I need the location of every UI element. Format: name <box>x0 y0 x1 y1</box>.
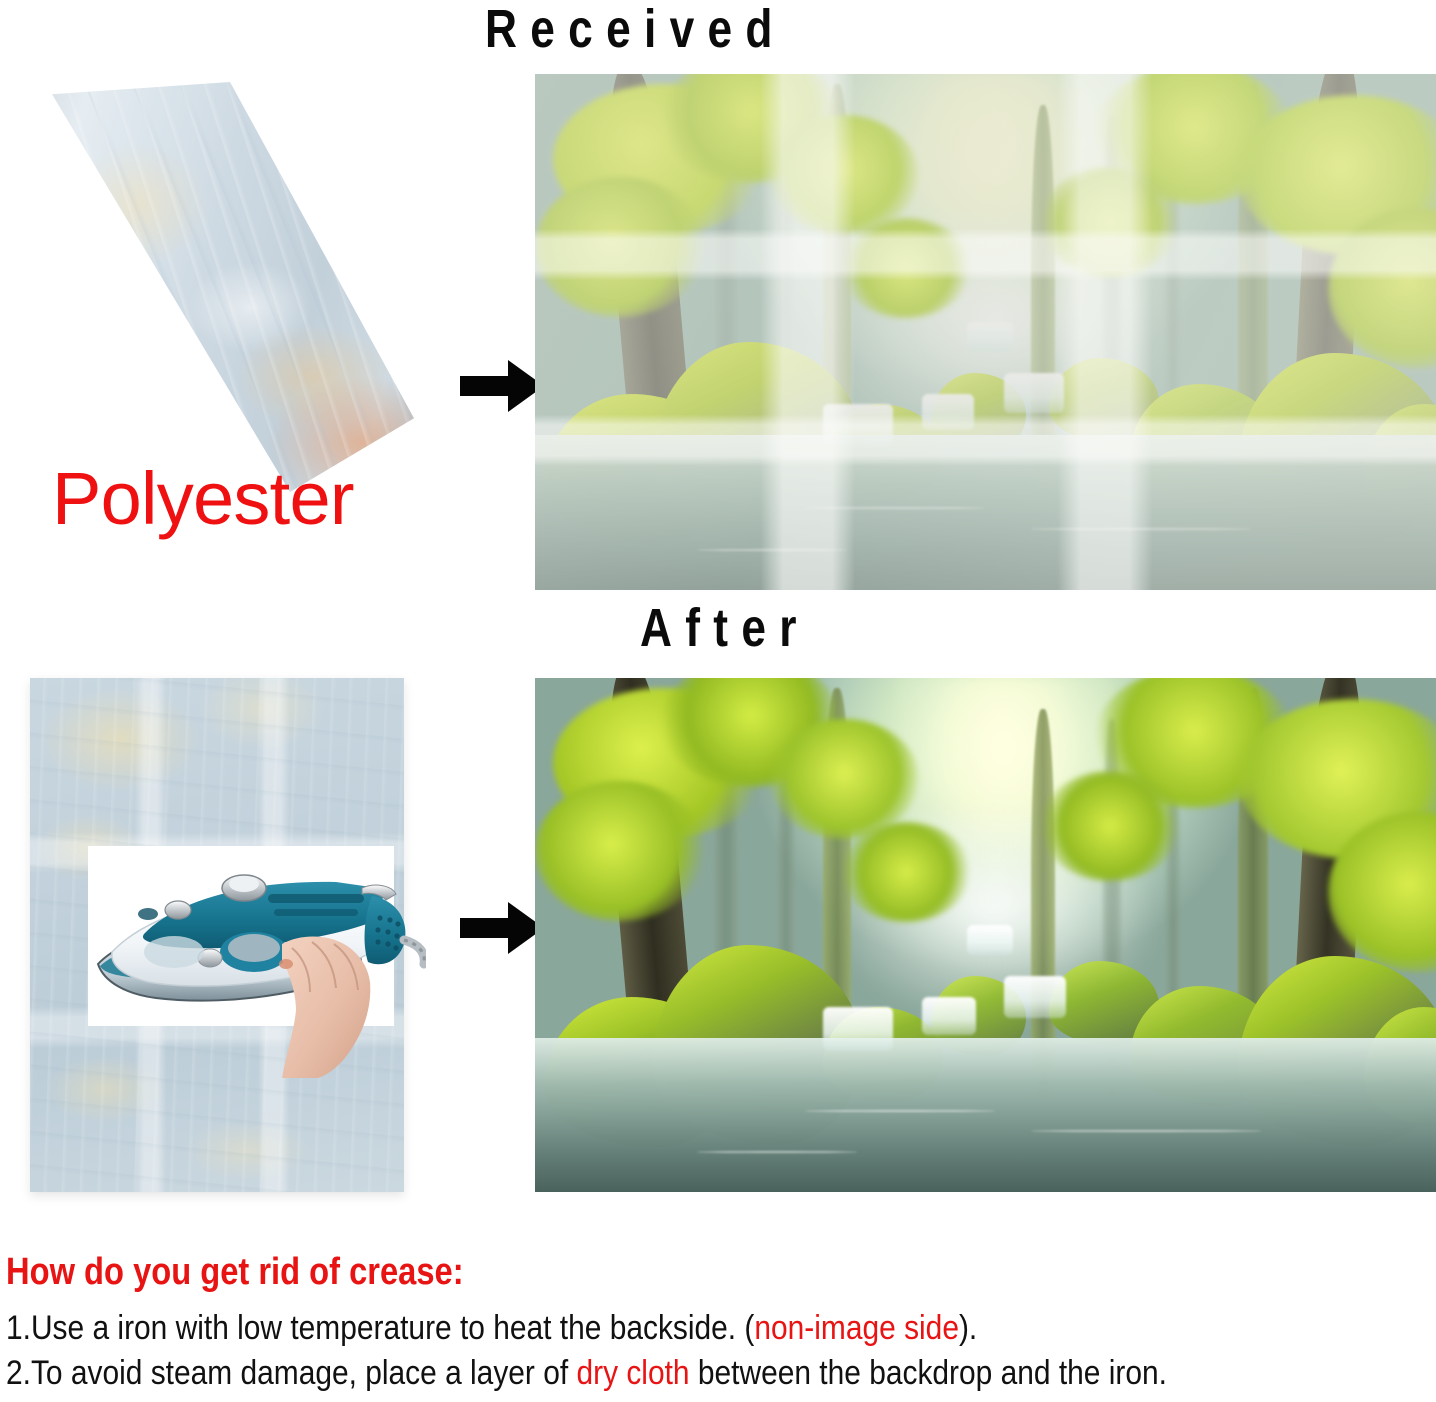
iron-rear-cap <box>365 896 406 964</box>
water-ripple <box>805 1110 995 1112</box>
fingernail <box>279 959 293 969</box>
care-step-1-suffix: ). <box>959 1309 977 1347</box>
care-instructions: How do you get rid of crease: 1.Use a ir… <box>6 1252 1436 1399</box>
care-step-1-highlight: non-image side <box>754 1309 959 1347</box>
waterfall <box>1004 373 1064 413</box>
foliage <box>535 177 705 317</box>
care-step-2: 2.To avoid steam damage, place a layer o… <box>6 1353 1264 1394</box>
foliage <box>1040 771 1180 881</box>
iron-water-window <box>144 936 204 968</box>
infographic-stage: Received Polyester <box>0 0 1436 1402</box>
iron-vent-slot <box>138 908 158 920</box>
waterfall <box>967 925 1013 955</box>
waterfall <box>922 394 974 430</box>
care-step-1: 1.Use a iron with low temperature to hea… <box>6 1308 1264 1349</box>
care-step-1-prefix: 1.Use a iron with low temperature to hea… <box>6 1309 754 1347</box>
forest-scene-clean <box>535 678 1436 1192</box>
care-step-2-highlight: dry cloth <box>576 1354 689 1392</box>
waterfall <box>823 404 893 446</box>
foliage <box>535 781 705 921</box>
foliage <box>1040 167 1180 277</box>
after-heading: After <box>640 601 810 655</box>
received-backdrop-photo <box>535 74 1436 590</box>
water-ripple <box>697 549 847 551</box>
arrow-right-icon <box>458 356 546 416</box>
iron-grip-slot <box>274 909 358 916</box>
arrow-right-icon <box>458 898 546 958</box>
care-step-2-prefix: 2.To avoid steam damage, place a layer o… <box>6 1354 576 1392</box>
care-heading: How do you get rid of crease: <box>6 1252 1236 1294</box>
water-ripple <box>697 1151 857 1153</box>
foliage <box>841 822 971 922</box>
polyester-label: Polyester <box>52 462 354 536</box>
waterfall <box>967 322 1013 352</box>
iron-spray-button <box>165 901 191 919</box>
waterfall <box>1004 976 1066 1018</box>
received-heading: Received <box>485 2 786 56</box>
waterfall <box>922 997 976 1035</box>
iron-with-hand-image <box>86 848 426 1078</box>
foliage <box>769 115 919 235</box>
waterfall <box>823 1007 893 1051</box>
fabric-edge-shadow <box>18 82 418 492</box>
after-backdrop-photo <box>535 678 1436 1192</box>
stream-water <box>535 1038 1436 1192</box>
forest-scene-creased <box>535 74 1436 590</box>
iron-knob-highlight <box>229 876 259 892</box>
folded-fabric-roll-image <box>18 82 418 492</box>
iron-grip-slot <box>268 894 364 903</box>
iron-dial-face <box>228 934 280 962</box>
care-step-2-suffix: between the backdrop and the iron. <box>690 1354 1167 1392</box>
stream-water <box>535 435 1436 590</box>
foliage <box>769 719 919 839</box>
